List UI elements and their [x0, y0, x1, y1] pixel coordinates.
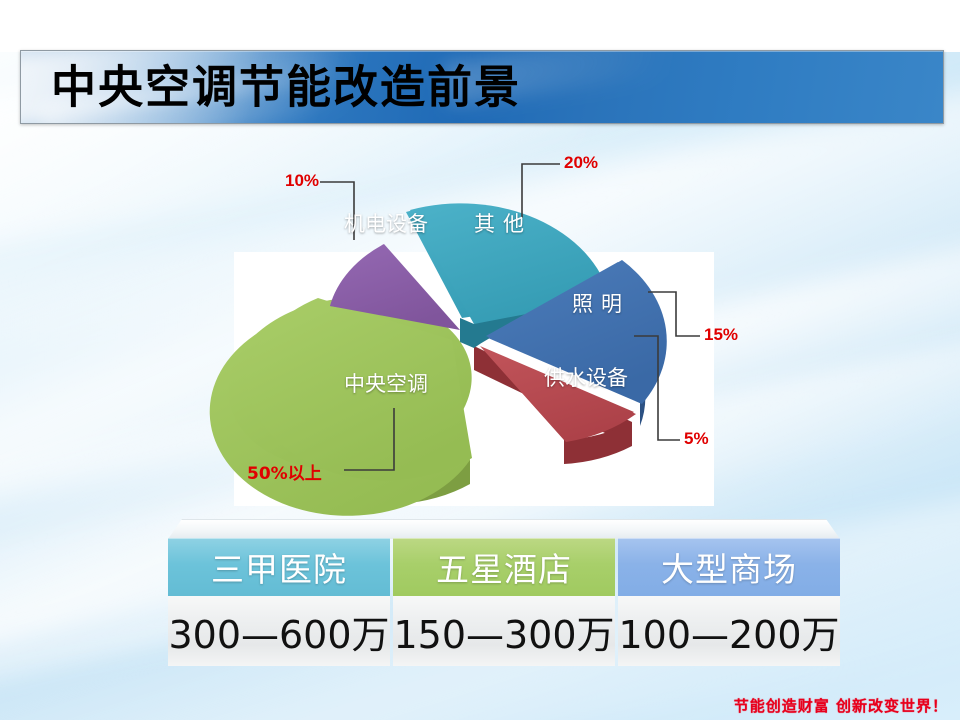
pie-percent-lighting: 15% — [704, 325, 738, 345]
table-column-hospital: 三甲医院 300—600万 — [168, 538, 390, 666]
title-banner: 中央空调节能改造前景 — [20, 50, 944, 124]
slide-canvas: 中央空调节能改造前景 — [0, 0, 960, 720]
table-column-mall: 大型商场 100—200万 — [618, 538, 840, 666]
table-header-mall: 大型商场 — [618, 538, 840, 596]
pie-percent-hvac: 50%以上 — [247, 459, 322, 484]
table-column-hotel: 五星酒店 150—300万 — [393, 538, 615, 666]
table-3d-top-edge — [168, 519, 840, 540]
leader-line-other — [522, 164, 560, 218]
pie-percent-equipment: 10% — [285, 171, 319, 191]
pie-percent-water: 5% — [684, 429, 709, 449]
table-header-hospital: 三甲医院 — [168, 538, 390, 596]
table-header-hotel: 五星酒店 — [393, 538, 615, 596]
table-cell-hospital-value: 300—600万 — [168, 596, 390, 666]
leader-line-equipment — [320, 182, 354, 240]
pie-slice-side-other — [460, 318, 474, 348]
comparison-table: 三甲医院 300—600万 五星酒店 150—300万 大型商场 100—200… — [168, 519, 840, 667]
page-title: 中央空调节能改造前景 — [51, 65, 521, 110]
pie-chart: 机电设备 其他 照明 供水设备 中央空调 20% 10% 15% 5% 50%以… — [234, 140, 714, 510]
pie-chart-svg — [234, 140, 714, 510]
pie-percent-other: 20% — [564, 153, 598, 173]
footer-slogan: 节能创造财富 创新改变世界！ — [734, 695, 948, 716]
top-white-margin — [0, 0, 960, 52]
table-cell-hotel-value: 150—300万 — [393, 596, 615, 666]
table-body: 三甲医院 300—600万 五星酒店 150—300万 大型商场 100—200… — [168, 538, 840, 666]
table-cell-mall-value: 100—200万 — [618, 596, 840, 666]
